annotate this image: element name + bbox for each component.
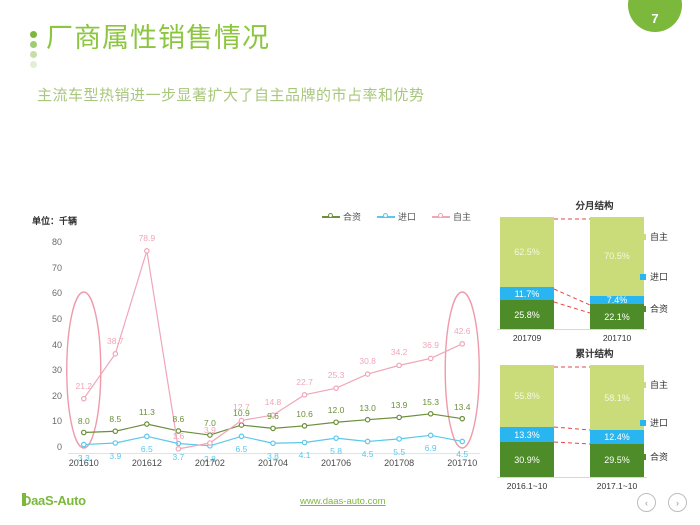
footer: DaaS-Auto www.daas-auto.com ‹ › xyxy=(0,483,700,525)
data-point[interactable] xyxy=(397,415,401,419)
legend-item-jinkou[interactable]: 进口 xyxy=(377,210,416,223)
page-subtitle: 主流车型热销进一步显著扩大了自主品牌的市占率和优势 xyxy=(37,84,425,105)
data-point-label: 6.9 xyxy=(425,443,437,453)
line-chart: 单位：千辆 合资 进口 自主 01020304050607080 8.08.51… xyxy=(22,200,492,485)
segment-hezi: 25.8% xyxy=(500,300,554,329)
data-point[interactable] xyxy=(82,442,86,446)
legend-swatch-icon xyxy=(640,274,646,280)
segment-jinkou: 7.4% xyxy=(590,296,644,304)
data-point-label: 3.7 xyxy=(172,452,184,462)
data-point-label: 4.5 xyxy=(362,449,374,459)
data-point-label: 13.4 xyxy=(454,402,471,412)
x-tick-label: 201706 xyxy=(321,458,351,468)
next-slide-button[interactable]: › xyxy=(668,493,687,512)
data-point[interactable] xyxy=(239,423,243,427)
legend-label: 合资 xyxy=(650,450,668,463)
x-tick-label: 201704 xyxy=(258,458,288,468)
cumulative-structure-title: 累计结构 xyxy=(497,346,692,360)
data-point[interactable] xyxy=(334,420,338,424)
slide: 7 厂商属性销售情况 主流车型热销进一步显著扩大了自主品牌的市占率和优势 单位：… xyxy=(0,0,700,525)
legend-label: 进口 xyxy=(650,416,668,429)
legend-item-jinkou[interactable]: 进口 xyxy=(640,416,668,429)
data-point-label: 13.0 xyxy=(359,403,376,413)
prev-slide-button[interactable]: ‹ xyxy=(637,493,656,512)
data-point[interactable] xyxy=(460,439,464,443)
data-point[interactable] xyxy=(397,437,401,441)
data-point[interactable] xyxy=(113,441,117,445)
y-tick-label: 60 xyxy=(52,288,62,298)
segment-jinkou: 11.7% xyxy=(500,287,554,300)
data-point[interactable] xyxy=(460,342,464,346)
data-point[interactable] xyxy=(365,417,369,421)
y-tick-label: 0 xyxy=(57,442,62,452)
data-point-label: 30.8 xyxy=(359,356,376,366)
data-point[interactable] xyxy=(460,416,464,420)
data-point[interactable] xyxy=(302,424,306,428)
monthly-structure-chart: 分月结构 62.5% 11.7% 25.8% 70.5% 7.4% 22.1% … xyxy=(497,198,692,346)
legend-swatch-icon xyxy=(640,454,646,460)
legend-swatch-icon xyxy=(377,216,395,218)
data-point[interactable] xyxy=(82,396,86,400)
segment-jinkou: 13.3% xyxy=(500,427,554,442)
legend-swatch-icon xyxy=(322,216,340,218)
data-point[interactable] xyxy=(271,441,275,445)
data-point-label: 4.1 xyxy=(299,450,311,460)
data-point-label: 5.8 xyxy=(330,446,342,456)
data-point-label: 25.3 xyxy=(328,370,345,380)
segment-zizhu: 55.8% xyxy=(500,365,554,427)
data-point-label: 9.6 xyxy=(267,411,279,421)
data-point[interactable] xyxy=(271,426,275,430)
data-point-label: 13.9 xyxy=(391,400,408,410)
data-point-label: 6.5 xyxy=(141,444,153,454)
data-point-label: 8.6 xyxy=(172,414,184,424)
y-tick-label: 40 xyxy=(52,340,62,350)
data-point-label: 34.2 xyxy=(391,347,408,357)
legend-swatch-icon xyxy=(432,216,450,218)
data-point-label: 5.5 xyxy=(393,447,405,457)
legend-item-zizhu[interactable]: 自主 xyxy=(640,230,668,243)
data-point-label: 22.7 xyxy=(296,377,313,387)
legend-label: 自主 xyxy=(650,230,668,243)
data-point-label: 21.2 xyxy=(75,381,92,391)
data-point[interactable] xyxy=(113,429,117,433)
legend-label: 进口 xyxy=(650,270,668,283)
highlight-ellipse xyxy=(445,292,479,448)
data-point-label: 12.7 xyxy=(233,402,250,412)
data-point-label: 36.9 xyxy=(422,340,439,350)
legend-item-zizhu[interactable]: 自主 xyxy=(640,378,668,391)
x-tick-label: 201610 xyxy=(69,458,99,468)
legend-label: 进口 xyxy=(398,210,416,223)
segment-hezi: 29.5% xyxy=(590,444,644,477)
bar-201709[interactable]: 62.5% 11.7% 25.8% xyxy=(500,217,554,329)
data-point[interactable] xyxy=(239,418,243,422)
y-axis-labels: 01020304050607080 xyxy=(22,242,66,452)
data-point[interactable] xyxy=(334,436,338,440)
data-point-label: 12.0 xyxy=(328,405,345,415)
data-point-label: 1.6 xyxy=(172,431,184,441)
data-point[interactable] xyxy=(145,422,149,426)
y-tick-label: 70 xyxy=(52,263,62,273)
data-point[interactable] xyxy=(82,430,86,434)
data-point[interactable] xyxy=(334,386,338,390)
data-point[interactable] xyxy=(302,393,306,397)
y-tick-label: 80 xyxy=(52,237,62,247)
x-tick-label: 201702 xyxy=(195,458,225,468)
data-point[interactable] xyxy=(176,447,180,451)
y-tick-label: 50 xyxy=(52,314,62,324)
data-point-label: 78.9 xyxy=(139,233,156,243)
segment-zizhu: 62.5% xyxy=(500,217,554,287)
legend-label: 自主 xyxy=(453,210,471,223)
data-point-label: 15.3 xyxy=(422,397,439,407)
data-point[interactable] xyxy=(239,434,243,438)
data-point-label: 3.9 xyxy=(204,425,216,435)
data-point[interactable] xyxy=(428,433,432,437)
data-point-label: 6.5 xyxy=(236,444,248,454)
legend-label: 合资 xyxy=(650,302,668,315)
line-plot-area: 8.08.511.38.67.010.99.610.612.013.013.91… xyxy=(68,248,478,453)
data-point-label: 3.9 xyxy=(109,451,121,461)
bar-2016[interactable]: 55.8% 13.3% 30.9% xyxy=(500,365,554,477)
bar-2017[interactable]: 58.1% 12.4% 29.5% xyxy=(590,365,644,477)
legend-swatch-icon xyxy=(640,234,646,240)
bar-201710[interactable]: 70.5% 7.4% 22.1% xyxy=(590,217,644,329)
x-tick-label: 201710 xyxy=(447,458,477,468)
dots-decoration-icon xyxy=(30,31,37,68)
legend-swatch-icon xyxy=(640,306,646,312)
logo: DaaS-Auto xyxy=(22,493,86,508)
data-point[interactable] xyxy=(365,439,369,443)
legend-item-hezi[interactable]: 合资 xyxy=(322,210,361,223)
x-label-201710: 201710 xyxy=(603,333,631,343)
y-tick-label: 20 xyxy=(52,391,62,401)
data-point-label: 14.8 xyxy=(265,397,282,407)
data-point-label: 8.5 xyxy=(109,414,121,424)
data-point[interactable] xyxy=(365,372,369,376)
data-point[interactable] xyxy=(113,352,117,356)
page-title: 厂商属性销售情况 xyxy=(46,24,270,54)
legend-item-hezi[interactable]: 合资 xyxy=(640,302,668,315)
data-point[interactable] xyxy=(397,363,401,367)
legend-item-hezi[interactable]: 合资 xyxy=(640,450,668,463)
data-point-label: 42.6 xyxy=(454,326,471,336)
x-tick-label: 201708 xyxy=(384,458,414,468)
y-tick-label: 10 xyxy=(52,416,62,426)
legend-item-zizhu[interactable]: 自主 xyxy=(432,210,471,223)
segment-zizhu: 58.1% xyxy=(590,365,644,430)
data-point[interactable] xyxy=(428,412,432,416)
line-chart-legend: 合资 进口 自主 xyxy=(322,210,471,223)
data-point[interactable] xyxy=(145,434,149,438)
monthly-structure-title: 分月结构 xyxy=(497,198,692,212)
page-number-badge: 7 xyxy=(628,0,682,32)
segment-zizhu: 70.5% xyxy=(590,217,644,296)
page-number: 7 xyxy=(651,11,658,26)
legend-item-jinkou[interactable]: 进口 xyxy=(640,270,668,283)
data-point-label: 10.6 xyxy=(296,409,313,419)
data-point-label: 8.0 xyxy=(78,416,90,426)
legend-swatch-icon xyxy=(640,382,646,388)
data-point-label: 11.3 xyxy=(139,407,155,417)
segment-hezi: 30.9% xyxy=(500,442,554,477)
website-link[interactable]: www.daas-auto.com xyxy=(300,496,386,507)
segment-hezi: 22.1% xyxy=(590,304,644,329)
data-point[interactable] xyxy=(428,356,432,360)
legend-label: 自主 xyxy=(650,378,668,391)
legend-swatch-icon xyxy=(640,420,646,426)
unit-label: 单位：千辆 xyxy=(32,214,77,227)
logo-text: DaaS-Auto xyxy=(22,493,86,508)
data-point-label: 38.7 xyxy=(107,336,124,346)
x-tick-label: 201612 xyxy=(132,458,162,468)
y-tick-label: 30 xyxy=(52,365,62,375)
x-label-201709: 201709 xyxy=(513,333,541,343)
data-point[interactable] xyxy=(208,441,212,445)
data-point[interactable] xyxy=(145,249,149,253)
segment-jinkou: 12.4% xyxy=(590,430,644,444)
cumulative-structure-chart: 累计结构 55.8% 13.3% 30.9% 58.1% 12.4% 29.5%… xyxy=(497,346,692,494)
monthly-x-labels: 201709 201710 xyxy=(497,329,647,346)
data-point[interactable] xyxy=(302,440,306,444)
title-block: 厂商属性销售情况 xyxy=(30,24,270,68)
legend-label: 合资 xyxy=(343,210,361,223)
